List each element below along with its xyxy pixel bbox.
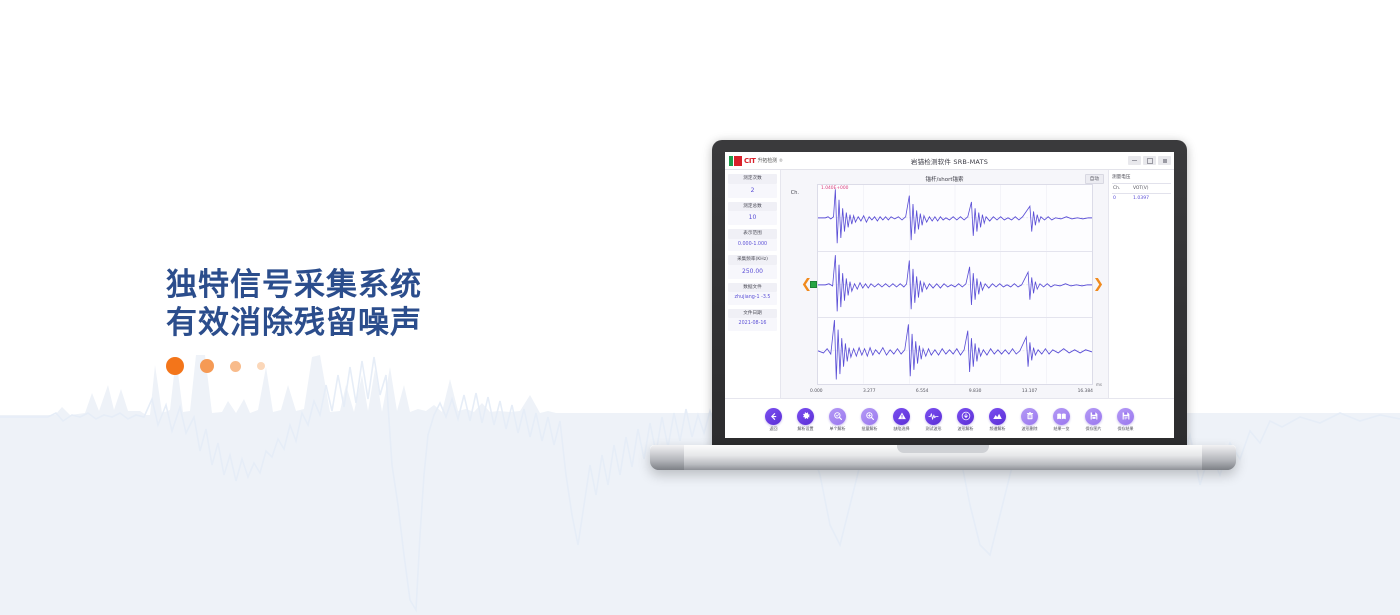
waveform-trace-1 <box>818 185 1092 251</box>
window-controls[interactable] <box>1128 156 1171 165</box>
magnifier-check-icon <box>829 408 846 425</box>
app-title: 岩锚检测软件 SRB-MATS <box>725 156 1174 166</box>
toolbar-button-wave-analysis[interactable]: 波形解析 <box>953 408 978 431</box>
toolbar-button-spectrum-analysis[interactable]: 频谱解析 <box>985 408 1010 431</box>
field-value[interactable]: 2021-08-16 <box>728 318 777 330</box>
field-label: 数据文件 <box>728 283 777 293</box>
field-measure-count: 测定次数 2 <box>728 174 777 198</box>
x-tick: 16.384 <box>1078 389 1093 394</box>
plot-row: Ch. ❮ 1.040E+000 <box>785 184 1104 385</box>
toolbar-label: 频谱解析 <box>990 427 1006 431</box>
promo-headline-line-2: 有效消除残留噪声 <box>166 304 586 342</box>
toolbar-button-save-image[interactable]: 保存图片 <box>1081 408 1106 431</box>
laptop-base-left-cap <box>650 445 684 470</box>
waveform-plots[interactable]: 1.040E+000 <box>817 184 1093 385</box>
chart-title: 锚杆/short锚索 <box>785 175 1104 183</box>
table-row[interactable]: 0 1.0397 <box>1112 194 1171 204</box>
download-wave-icon <box>957 408 974 425</box>
table-header-row: Ch. VOT(V) <box>1112 184 1171 194</box>
toolbar-button-results-list[interactable]: 结果一览 <box>1049 408 1074 431</box>
laptop-screen: CIT 升拓检测 ® 岩锚检测软件 SRB-MATS 测定次数 2 <box>725 152 1174 438</box>
trash-icon <box>1021 408 1038 425</box>
x-axis-ticks: 0.000 3.277 6.554 9.830 13.107 16.384 <box>810 385 1093 394</box>
channel-label: Ch. <box>785 184 801 385</box>
toolbar-button-test-waveform[interactable]: 测试波形 <box>921 408 946 431</box>
field-label: 测定总数 <box>728 202 777 212</box>
toolbar-button-save-result[interactable]: 保存结果 <box>1113 408 1138 431</box>
carousel-dot-1[interactable] <box>166 357 184 375</box>
toolbar-label: 解析设置 <box>798 427 814 431</box>
app-body: 测定次数 2 测定总数 10 表示范围 0.000-1.000 采集频率(KHz… <box>725 170 1174 398</box>
back-arrow-icon <box>765 408 782 425</box>
cell-vot: 1.0397 <box>1132 194 1171 204</box>
field-total-count: 测定总数 10 <box>728 202 777 226</box>
x-tick: 9.830 <box>969 389 982 394</box>
toolbar-label: 批量解析 <box>862 427 878 431</box>
field-data-file: 数据文件 zhujiang-1 -3.5 <box>728 283 777 305</box>
field-file-date: 文件日期 2021-08-16 <box>728 309 777 331</box>
waveform-trace-2 <box>818 252 1092 318</box>
promo-block: 独特信号采集系统 有效消除残留噪声 <box>166 266 586 376</box>
field-label: 采集频率(KHz) <box>728 255 777 265</box>
record-marker-icon[interactable] <box>810 281 817 288</box>
x-axis: ms 0.000 3.277 6.554 9.830 13.107 16.384 <box>810 385 1093 398</box>
field-label: 文件日期 <box>728 309 777 319</box>
toolbar-button-delete-waveform[interactable]: 波形删除 <box>1017 408 1042 431</box>
voltage-table: Ch. VOT(V) 0 1.0397 <box>1112 183 1171 203</box>
maximize-icon[interactable] <box>1143 156 1156 165</box>
carousel-dot-2[interactable] <box>200 359 214 373</box>
waveform-plot-2[interactable] <box>818 252 1092 319</box>
carousel-dot-4[interactable] <box>257 362 265 370</box>
carousel-dot-3[interactable] <box>230 361 241 372</box>
spectrum-icon <box>989 408 1006 425</box>
field-label: 表示范围 <box>728 229 777 239</box>
parameter-sidebar: 测定次数 2 测定总数 10 表示范围 0.000-1.000 采集频率(KHz… <box>725 170 781 398</box>
carousel-dots[interactable] <box>166 356 586 376</box>
column-header-vot: VOT(V) <box>1132 184 1171 194</box>
promo-headline-line-1: 独特信号采集系统 <box>166 266 586 304</box>
x-tick: 3.277 <box>863 389 876 394</box>
toolbar-button-batch-analysis[interactable]: 批量解析 <box>857 408 882 431</box>
field-value[interactable]: 2 <box>728 184 777 198</box>
toolbar-button-defect-select[interactable]: 缺陷选择 <box>889 408 914 431</box>
voltage-panel: 测量电压 Ch. VOT(V) 0 1.0397 <box>1108 170 1174 398</box>
toolbar-label: 单个解析 <box>830 427 846 431</box>
x-axis-unit: ms <box>1096 382 1102 387</box>
toolbar-label: 返回 <box>770 427 778 431</box>
x-tick: 0.000 <box>810 389 823 394</box>
field-value[interactable]: 0.000-1.000 <box>728 239 777 251</box>
chart-header: 锚杆/short锚索 自动 <box>785 173 1104 184</box>
warning-icon <box>893 408 910 425</box>
gear-icon <box>797 408 814 425</box>
laptop-base <box>650 445 1236 470</box>
toolbar-label: 保存结果 <box>1118 427 1134 431</box>
field-value[interactable]: zhujiang-1 -3.5 <box>728 292 777 304</box>
magnifier-icon <box>861 408 878 425</box>
toolbar-button-analysis-settings[interactable]: 解析设置 <box>793 408 818 431</box>
waveform-plot-1[interactable] <box>818 185 1092 252</box>
cell-ch: 0 <box>1112 194 1132 204</box>
waveform-icon <box>925 408 942 425</box>
toolbar-button-single-analysis[interactable]: 单个解析 <box>825 408 850 431</box>
laptop-mockup: CIT 升拓检测 ® 岩锚检测软件 SRB-MATS 测定次数 2 <box>650 140 1250 485</box>
save-file-icon <box>1117 408 1134 425</box>
toolbar-label: 结果一览 <box>1054 427 1070 431</box>
minimize-icon[interactable] <box>1128 156 1141 165</box>
field-display-range: 表示范围 0.000-1.000 <box>728 229 777 251</box>
toolbar-button-back[interactable]: 返回 <box>761 408 786 431</box>
field-value[interactable]: 10 <box>728 211 777 225</box>
column-header-ch: Ch. <box>1112 184 1132 194</box>
voltage-panel-title: 测量电压 <box>1112 174 1171 180</box>
x-tick: 6.554 <box>916 389 929 394</box>
toolbar-label: 缺陷选择 <box>894 427 910 431</box>
laptop-lid: CIT 升拓检测 ® 岩锚检测软件 SRB-MATS 测定次数 2 <box>712 140 1187 450</box>
field-label: 测定次数 <box>728 174 777 184</box>
auto-button[interactable]: 自动 <box>1085 174 1104 184</box>
field-sampling-frequency: 采集频率(KHz) 250.00 <box>728 255 777 279</box>
next-record-button[interactable]: ❯ <box>1093 184 1104 385</box>
toolbar-label: 波形删除 <box>1022 427 1038 431</box>
x-tick: 13.107 <box>1022 389 1037 394</box>
save-image-icon <box>1085 408 1102 425</box>
bottom-toolbar: 返回 解析设置 单个解析 <box>725 398 1174 438</box>
toolbar-label: 波形解析 <box>958 427 974 431</box>
waveform-plot-3[interactable] <box>818 318 1092 384</box>
toolbar-label: 保存图片 <box>1086 427 1102 431</box>
toolbar-label: 测试波形 <box>926 427 942 431</box>
close-icon[interactable] <box>1158 156 1171 165</box>
chart-area: 锚杆/short锚索 自动 Ch. ❮ 1.040E+000 <box>781 170 1108 398</box>
app-titlebar: CIT 升拓检测 ® 岩锚检测软件 SRB-MATS <box>725 152 1174 170</box>
field-value[interactable]: 250.00 <box>728 265 777 279</box>
laptop-base-right-cap <box>1202 445 1236 470</box>
waveform-trace-3 <box>818 318 1092 384</box>
book-icon <box>1053 408 1070 425</box>
